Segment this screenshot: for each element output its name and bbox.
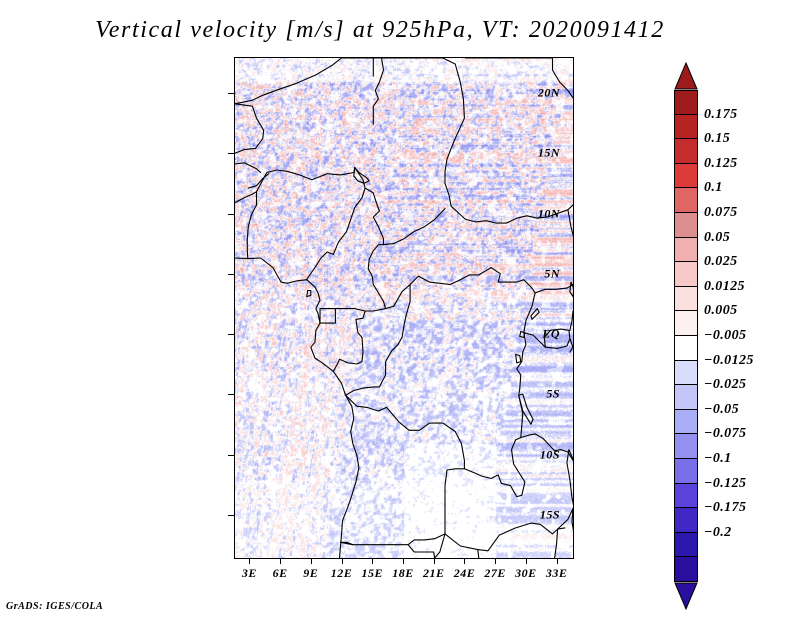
colorbar-segment <box>674 164 698 189</box>
colorbar-tick-label: 0.005 <box>704 303 738 319</box>
border-polyline <box>572 509 573 534</box>
border-polyline <box>307 291 311 297</box>
country-borders-overlay <box>235 58 573 558</box>
y-axis-tick-mark <box>228 334 234 335</box>
x-axis-tick-mark <box>526 558 527 564</box>
border-polyline <box>346 285 411 396</box>
border-polyline <box>568 210 573 239</box>
border-polyline <box>520 332 525 338</box>
border-polyline <box>464 434 535 497</box>
border-polyline <box>341 469 465 545</box>
border-polyline <box>307 168 365 280</box>
border-polyline <box>235 163 261 173</box>
colorbar-tick-label: 0.1 <box>704 180 723 196</box>
x-axis-tick-mark <box>372 558 373 564</box>
y-axis-tick-label: 10S <box>540 447 560 462</box>
colorbar-segment <box>674 139 698 164</box>
colorbar-tick-label: −0.05 <box>704 402 739 418</box>
border-polyline <box>478 550 479 558</box>
colorbar-tick-label: −0.175 <box>704 500 746 516</box>
border-polyline <box>408 545 435 558</box>
x-axis-tick-mark <box>557 558 558 564</box>
border-polyline <box>516 354 521 362</box>
border-polyline <box>555 529 558 558</box>
colorbar-segment <box>674 508 698 533</box>
x-axis-tick-label: 27E <box>484 566 506 581</box>
y-axis-tick-mark <box>228 93 234 94</box>
grads-attribution: GrADS: IGES/COLA <box>6 601 103 612</box>
colorbar-segment <box>674 287 698 312</box>
border-polyline <box>570 347 573 352</box>
colorbar-tick-label: 0.0125 <box>704 279 745 295</box>
x-axis-tick-label: 21E <box>423 566 445 581</box>
border-polyline <box>235 258 359 558</box>
colorbar-segment <box>674 311 698 336</box>
x-axis-tick-mark <box>342 558 343 564</box>
x-axis-tick-label: 6E <box>273 566 288 581</box>
border-polyline <box>531 309 539 320</box>
x-axis-tick-label: 18E <box>392 566 414 581</box>
colorbar-segment <box>674 434 698 459</box>
colorbar-tick-label: −0.125 <box>704 476 746 492</box>
colorbar-min-extend-arrow <box>674 582 698 610</box>
y-axis-tick-mark <box>228 515 234 516</box>
colorbar-segment <box>674 188 698 213</box>
y-axis-tick-label: 15S <box>540 507 560 522</box>
y-axis-tick-mark <box>228 455 234 456</box>
x-axis-tick-label: 12E <box>331 566 353 581</box>
x-axis-tick-label: 24E <box>454 566 476 581</box>
y-axis-tick-mark <box>228 274 234 275</box>
border-polyline <box>335 309 365 311</box>
x-axis-tick-label: 33E <box>546 566 568 581</box>
y-axis-tick-mark <box>228 214 234 215</box>
colorbar-tick-label: −0.025 <box>704 377 746 393</box>
border-polyline <box>235 58 342 104</box>
colorbar-segment <box>674 484 698 509</box>
border-polyline <box>570 311 573 330</box>
x-axis-tick-label: 30E <box>515 566 537 581</box>
y-axis-tick-mark <box>228 394 234 395</box>
colorbar-max-extend-arrow <box>674 62 698 90</box>
colorbar-segments <box>674 90 698 582</box>
border-polyline <box>235 192 257 203</box>
border-polyline <box>519 394 533 424</box>
colorbar-tick-label: 0.05 <box>704 230 730 246</box>
colorbar-segment <box>674 533 698 558</box>
x-axis-tick-mark <box>403 558 404 564</box>
colorbar-segment <box>674 90 698 115</box>
border-polyline <box>342 58 374 76</box>
colorbar-tick-label: 0.15 <box>704 131 730 147</box>
colorbar-segment <box>674 213 698 238</box>
border-polyline <box>386 268 524 309</box>
y-axis-tick-mark <box>228 153 234 154</box>
colorbar-segment <box>674 361 698 386</box>
x-axis-tick-mark <box>311 558 312 564</box>
colorbar-segment <box>674 115 698 140</box>
border-polyline <box>384 209 446 245</box>
x-axis-tick-mark <box>280 558 281 564</box>
border-polyline <box>365 188 386 309</box>
x-axis-tick-label: 3E <box>242 566 257 581</box>
y-axis-tick-label: 10N <box>538 206 560 221</box>
border-polyline <box>445 523 565 551</box>
border-polyline <box>248 174 268 188</box>
colorbar-segment <box>674 238 698 263</box>
x-axis-tick-mark <box>249 558 250 564</box>
page-title: Vertical velocity [m/s] at 925hPa, VT: 2… <box>0 17 760 44</box>
colorbar-segment <box>674 385 698 410</box>
border-polyline <box>235 104 264 153</box>
colorbar-tick-label: 0.025 <box>704 254 738 270</box>
colorbar-tick-label: −0.005 <box>704 328 746 344</box>
x-axis-tick-mark <box>464 558 465 564</box>
x-axis-tick-mark <box>434 558 435 564</box>
border-polyline <box>346 395 465 469</box>
x-axis-tick-mark <box>495 558 496 564</box>
x-axis-tick-label: 9E <box>303 566 318 581</box>
border-polyline <box>320 309 335 324</box>
colorbar-tick-label: −0.075 <box>704 426 746 442</box>
x-axis-tick-label: 15E <box>362 566 384 581</box>
y-axis-tick-label: EQ <box>542 327 560 342</box>
y-axis-tick-label: 15N <box>538 146 560 161</box>
colorbar-segment <box>674 262 698 287</box>
colorbar-segment <box>674 557 698 582</box>
border-polyline <box>517 280 535 438</box>
border-polyline <box>257 168 355 192</box>
colorbar-tick-label: 0.125 <box>704 156 738 172</box>
colorbar-tick-label: −0.0125 <box>704 353 754 369</box>
map-plot-area: 20N15N10N5NEQ5S10S15S 3E6E9E12E15E18E21E… <box>234 57 572 557</box>
border-polyline <box>373 58 573 223</box>
border-polyline <box>535 285 573 293</box>
colorbar-segment <box>674 410 698 435</box>
border-polyline <box>570 339 573 348</box>
colorbar-tick-label: −0.2 <box>704 525 732 541</box>
map-frame <box>234 57 574 559</box>
border-polyline <box>567 450 573 508</box>
y-axis-tick-label: 5N <box>544 266 560 281</box>
y-axis-tick-label: 5S <box>546 387 560 402</box>
y-axis-tick-label: 20N <box>538 86 560 101</box>
colorbar-tick-label: −0.1 <box>704 451 732 467</box>
colorbar-segment <box>674 459 698 484</box>
colorbar-segment <box>674 336 698 361</box>
border-polyline <box>247 192 256 259</box>
colorbar-tick-label: 0.075 <box>704 205 738 221</box>
border-polyline <box>333 309 385 372</box>
border-polyline <box>373 58 383 124</box>
colorbar: 0.1750.150.1250.10.0750.050.0250.01250.0… <box>674 62 794 562</box>
colorbar-tick-label: 0.175 <box>704 107 738 123</box>
